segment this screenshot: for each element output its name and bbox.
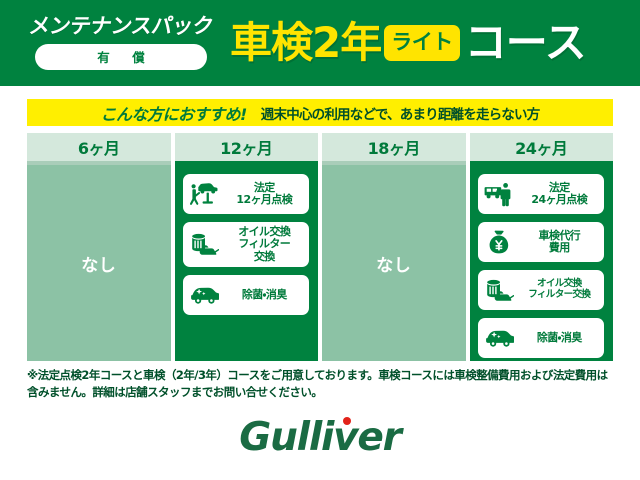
schedule-column: 18ヶ月なし bbox=[322, 133, 466, 361]
course-title-block: 車検2年 ライト コース bbox=[228, 22, 640, 64]
car-sparkle-icon bbox=[189, 282, 219, 308]
course-main-title: 車検2年 bbox=[230, 22, 381, 64]
service-item-label: オイル交換フィルター交換 bbox=[519, 279, 599, 300]
course-suffix-title: コース bbox=[465, 22, 586, 64]
schedule-column-body: 法定12ヶ月点検オイル交換フィルター交換除菌・消臭 bbox=[175, 165, 319, 361]
schedule-column-header: 12ヶ月 bbox=[175, 133, 319, 161]
schedule-column-header: 6ヶ月 bbox=[27, 133, 171, 161]
recommendation-banner: こんな方におすすめ! 週末中心の利用などで、あまり距離を走らない方 bbox=[27, 99, 613, 126]
service-item: 除菌・消臭 bbox=[478, 318, 604, 358]
service-item-label: 除菌・消臭 bbox=[519, 332, 599, 344]
schedule-column-header: 24ヶ月 bbox=[470, 133, 614, 161]
service-item-label-line: フィルター交換 bbox=[519, 290, 599, 301]
service-item-label-line: フィルター bbox=[224, 238, 304, 250]
service-item-label: 法定12ヶ月点検 bbox=[224, 182, 304, 207]
maintenance-pack-title: メンテナンスパック bbox=[27, 16, 214, 37]
car-sparkle-icon bbox=[484, 325, 514, 351]
oil-can-filter-icon bbox=[189, 231, 219, 257]
car-on-lift-icon bbox=[189, 181, 219, 207]
service-item-label: 法定24ヶ月点検 bbox=[519, 182, 599, 207]
schedule-column-body: なし bbox=[322, 165, 466, 361]
recommendation-lead: こんな方におすすめ! bbox=[101, 101, 247, 125]
service-item: オイル交換フィルター交換 bbox=[478, 270, 604, 310]
service-item-label: 除菌・消臭 bbox=[224, 289, 304, 301]
course-light-badge: ライト bbox=[384, 25, 460, 61]
schedule-column: 12ヶ月法定12ヶ月点検オイル交換フィルター交換除菌・消臭 bbox=[175, 133, 319, 361]
service-item: 法定12ヶ月点検 bbox=[183, 174, 309, 214]
gulliver-logo-text: Gulliver bbox=[239, 415, 400, 460]
service-item-label-line: 費用 bbox=[519, 242, 599, 254]
recommendation-detail: 週末中心の利用などで、あまり距離を走らない方 bbox=[261, 103, 540, 123]
service-item: 除菌・消臭 bbox=[183, 275, 309, 315]
service-item: 車検代行費用 bbox=[478, 222, 604, 262]
service-item-label-line: 24ヶ月点検 bbox=[519, 194, 599, 206]
service-item-label-line: 交換 bbox=[224, 251, 304, 263]
header-banner: メンテナンスパック 有 償 車検2年 ライト コース bbox=[0, 0, 640, 86]
footnote-text: ※法定点検2年コースと車検（2年/3年）コースをご用意しております。車検コースに… bbox=[27, 367, 617, 402]
schedule-column: 24ヶ月法定24ヶ月点検車検代行費用オイル交換フィルター交換除菌・消臭 bbox=[470, 133, 614, 361]
service-item-label-line: 除菌・消臭 bbox=[224, 289, 304, 301]
oil-can-filter-icon bbox=[484, 277, 514, 303]
service-item-label-line: 除菌・消臭 bbox=[519, 332, 599, 344]
car-inspection-staff-icon bbox=[484, 181, 514, 207]
money-bag-yen-icon bbox=[484, 229, 514, 255]
schedule-column-body: 法定24ヶ月点検車検代行費用オイル交換フィルター交換除菌・消臭 bbox=[470, 165, 614, 361]
service-item: 法定24ヶ月点検 bbox=[478, 174, 604, 214]
advertisement-page: メンテナンスパック 有 償 車検2年 ライト コース こんな方におすすめ! 週末… bbox=[0, 0, 640, 480]
service-item-label: オイル交換フィルター交換 bbox=[224, 226, 304, 263]
brand-logo-area: Gulliver bbox=[0, 415, 640, 460]
schedule-column: 6ヶ月なし bbox=[27, 133, 171, 361]
no-service-label: なし bbox=[376, 251, 411, 276]
schedule-column-body: なし bbox=[27, 165, 171, 361]
maintenance-schedule-table: 6ヶ月なし12ヶ月法定12ヶ月点検オイル交換フィルター交換除菌・消臭18ヶ月なし… bbox=[27, 133, 613, 361]
service-item-label: 車検代行費用 bbox=[519, 230, 599, 255]
no-service-label: なし bbox=[81, 251, 116, 276]
schedule-column-header: 18ヶ月 bbox=[322, 133, 466, 161]
paid-badge: 有 償 bbox=[35, 44, 207, 70]
maintenance-pack-block: メンテナンスパック 有 償 bbox=[0, 16, 228, 70]
service-item: オイル交換フィルター交換 bbox=[183, 222, 309, 267]
gulliver-logo: Gulliver bbox=[239, 415, 400, 460]
service-item-label-line: 12ヶ月点検 bbox=[224, 194, 304, 206]
